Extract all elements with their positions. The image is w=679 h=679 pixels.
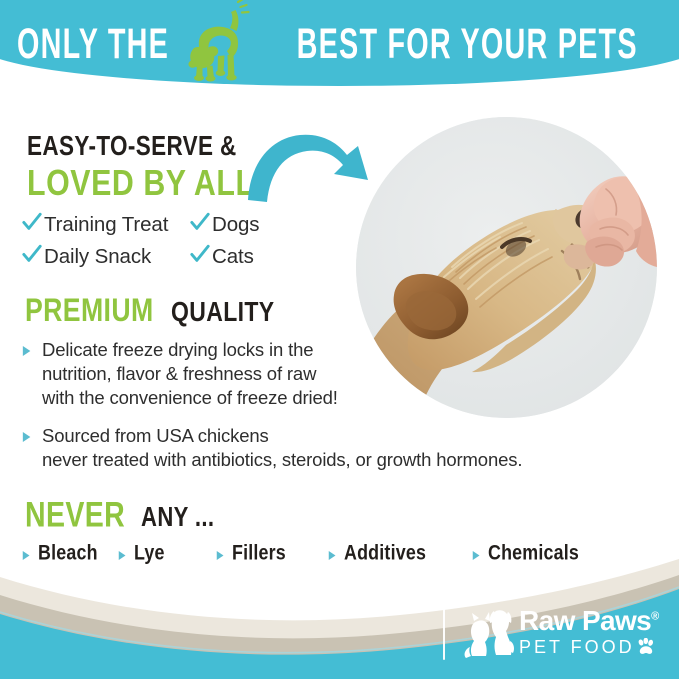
triangle-bullet-icon bbox=[216, 550, 232, 561]
loved-by-all-line2: LOVED BY ALL! bbox=[27, 164, 265, 200]
never-item-label: Chemicals bbox=[488, 542, 579, 566]
list-item: Additives bbox=[328, 543, 472, 565]
triangle-bullet-icon bbox=[118, 550, 134, 561]
checklist-label: Dogs bbox=[212, 213, 259, 237]
never-item-label: Bleach bbox=[38, 542, 98, 566]
triangle-bullet-icon bbox=[22, 345, 42, 357]
brand-tagline-text: PET FOOD bbox=[519, 638, 635, 656]
logo-divider bbox=[443, 602, 445, 660]
checklist-row: Training Treat Dogs bbox=[22, 211, 332, 237]
list-item: Delicate freeze drying locks in the nutr… bbox=[22, 338, 622, 410]
brand-name: Raw Paws® bbox=[519, 605, 659, 636]
bullet-text: Delicate freeze drying locks in the nutr… bbox=[42, 338, 338, 410]
check-mark-icon bbox=[22, 244, 44, 264]
logo-text-block: Raw Paws® PET FOOD bbox=[519, 607, 659, 656]
footer-brand-logo: Raw Paws® PET FOOD bbox=[443, 595, 679, 667]
list-item: Cats bbox=[190, 243, 310, 269]
list-item: Bleach bbox=[22, 543, 118, 565]
list-item: Chemicals bbox=[472, 543, 602, 565]
premium-quality-heading: PREMIUMQUALITY bbox=[25, 295, 283, 328]
list-item: Lye bbox=[118, 543, 216, 565]
poster-root: ONLY THE bbox=[0, 0, 679, 679]
brand-name-text: Raw Paws bbox=[519, 605, 651, 636]
header-banner bbox=[0, 0, 679, 86]
never-heading-green: NEVER bbox=[25, 494, 125, 535]
never-item-label: Lye bbox=[134, 542, 165, 566]
list-item: Sourced from USA chickens never treated … bbox=[22, 424, 622, 472]
list-item: Dogs bbox=[190, 211, 310, 237]
triangle-bullet-icon bbox=[472, 550, 488, 561]
check-mark-icon bbox=[22, 212, 44, 232]
triangle-bullet-icon bbox=[22, 550, 38, 561]
list-item: Daily Snack bbox=[22, 243, 190, 269]
registered-trademark-mark: ® bbox=[651, 610, 659, 622]
premium-bullet-list: Delicate freeze drying locks in the nutr… bbox=[22, 338, 622, 486]
checklist-label: Daily Snack bbox=[44, 245, 151, 269]
brand-tagline: PET FOOD bbox=[519, 638, 659, 656]
never-heading-black: ANY ... bbox=[141, 502, 214, 534]
never-any-heading: NEVERANY ... bbox=[25, 497, 221, 533]
list-item: Training Treat bbox=[22, 211, 190, 237]
never-item-label: Fillers bbox=[232, 542, 286, 566]
curved-arrow-icon bbox=[248, 124, 390, 206]
never-item-label: Additives bbox=[344, 542, 426, 566]
premium-heading-black: QUALITY bbox=[171, 296, 275, 328]
check-mark-icon bbox=[190, 212, 212, 232]
never-items-row: Bleach Lye Fillers Additives Chemicals bbox=[22, 543, 667, 565]
easy-to-serve-line1: EASY-TO-SERVE & bbox=[27, 133, 260, 161]
check-mark-icon bbox=[190, 244, 212, 264]
paw-print-icon bbox=[637, 638, 655, 655]
list-item: Fillers bbox=[216, 543, 328, 565]
checklist-label: Cats bbox=[212, 245, 254, 269]
checklist-row: Daily Snack Cats bbox=[22, 243, 332, 269]
bullet-text: Sourced from USA chickens never treated … bbox=[42, 424, 522, 472]
checklist-label: Training Treat bbox=[44, 213, 168, 237]
dog-and-cat-logo-icon bbox=[463, 603, 515, 659]
premium-heading-green: PREMIUM bbox=[25, 293, 154, 330]
checklist: Training Treat Dogs Daily Snack bbox=[22, 211, 332, 275]
triangle-bullet-icon bbox=[22, 431, 42, 443]
triangle-bullet-icon bbox=[328, 550, 344, 561]
